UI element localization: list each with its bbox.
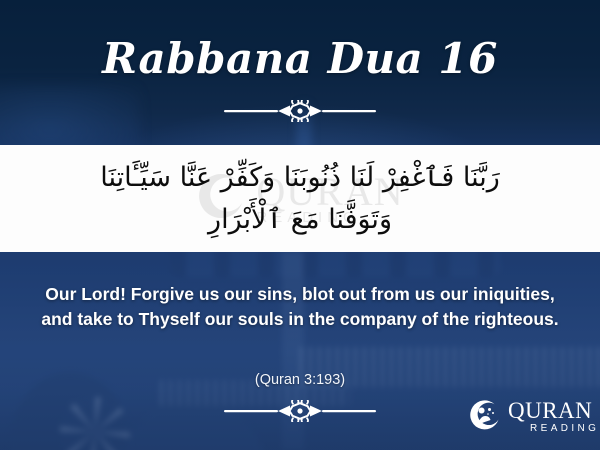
ornament-divider-icon <box>220 400 380 422</box>
rabbana-dua-card: Rabbana Dua 16 <box>0 0 600 450</box>
quran-reading-logo[interactable]: QURAN ™ READING <box>468 399 599 434</box>
ornament-divider-icon <box>220 100 380 122</box>
ornament-divider-top <box>0 100 600 122</box>
arabic-verse: رَبَّنَا فَٱغْفِرْ لَنَا ذُنُوبَنَا وَكَ… <box>0 145 600 252</box>
arabic-line-1: رَبَّنَا فَٱغْفِرْ لَنَا ذُنُوبَنَا وَكَ… <box>100 157 500 199</box>
page-title: Rabbana Dua 16 <box>0 38 600 80</box>
crescent-moon-reader-icon <box>468 400 502 434</box>
translation-text: Our Lord! Forgive us our sins, blot out … <box>40 282 560 332</box>
logo-secondary-text: READING <box>530 424 599 434</box>
logo-primary-text: QURAN <box>508 399 599 422</box>
arabic-line-2: وَتَوَفَّنَا مَعَ ٱلْأَبْرَارِ <box>208 199 392 241</box>
verse-reference: (Quran 3:193) <box>0 372 600 388</box>
arabic-verse-band: QURAN READING رَبَّنَا فَٱغْفِرْ لَنَا ذ… <box>0 145 600 252</box>
logo-wordmark: QURAN ™ READING <box>508 399 599 434</box>
